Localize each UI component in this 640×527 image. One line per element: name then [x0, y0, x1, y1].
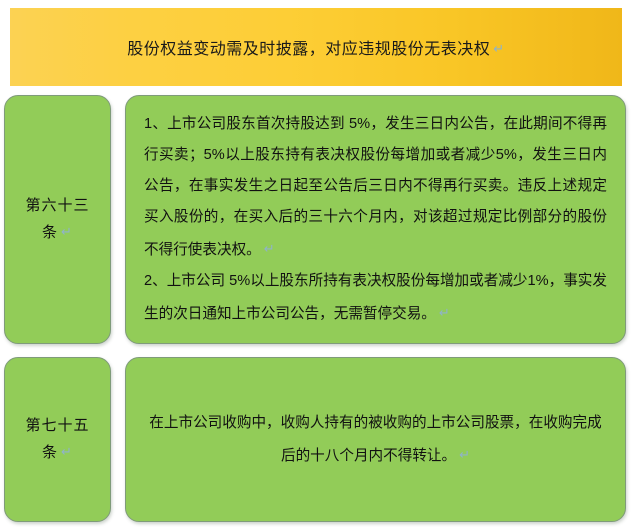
article-paragraph-text: 1、上市公司股东首次持股达到 5%，发生三日内公告，在此期间不得再行买卖；5%以…: [144, 116, 607, 258]
return-mark-icon: ↵: [58, 444, 73, 459]
article-body-cell-63: 1、上市公司股东首次持股达到 5%，发生三日内公告，在此期间不得再行买卖；5%以…: [125, 95, 626, 344]
header-title: 股份权益变动需及时披露，对应违规股份无表决权↵: [127, 35, 504, 59]
return-mark-icon: ↵: [58, 224, 73, 239]
article-paragraph-text: 2、上市公司 5%以上股东所持有表决权股份每增加或者减少1%，事实发生的次日通知…: [144, 273, 607, 322]
header-banner: 股份权益变动需及时披露，对应违规股份无表决权↵: [10, 8, 622, 86]
article-label-cell-63: 第六十三条↵: [4, 95, 111, 344]
return-mark-icon: ↵: [490, 41, 504, 56]
article-paragraph: 1、上市公司股东首次持股达到 5%，发生三日内公告，在此期间不得再行买卖；5%以…: [144, 109, 607, 266]
header-title-text: 股份权益变动需及时披露，对应违规股份无表决权: [127, 41, 490, 58]
article-body-cell-75: 在上市公司收购中，收购人持有的被收购的上市公司股票，在收购完成后的十八个月内不得…: [125, 357, 626, 522]
article-body-text-63: 1、上市公司股东首次持股达到 5%，发生三日内公告，在此期间不得再行买卖；5%以…: [126, 109, 625, 330]
article-body-text-75: 在上市公司收购中，收购人持有的被收购的上市公司股票，在收购完成后的十八个月内不得…: [126, 408, 625, 472]
return-mark-icon: ↵: [456, 447, 470, 462]
article-paragraph: 在上市公司收购中，收购人持有的被收购的上市公司股票，在收购完成后的十八个月内不得…: [144, 408, 607, 472]
article-label-text-75: 第七十五条↵: [5, 413, 110, 466]
article-label-text-63: 第六十三条↵: [5, 193, 110, 246]
return-mark-icon: ↵: [436, 305, 450, 320]
article-paragraph-text: 在上市公司收购中，收购人持有的被收购的上市公司股票，在收购完成后的十八个月内不得…: [149, 415, 601, 464]
article-paragraph: 2、上市公司 5%以上股东所持有表决权股份每增加或者减少1%，事实发生的次日通知…: [144, 266, 607, 330]
return-mark-icon: ↵: [261, 241, 275, 256]
article-label-cell-75: 第七十五条↵: [4, 357, 111, 522]
slide-canvas: 股份权益变动需及时披露，对应违规股份无表决权↵ 第六十三条↵ 1、上市公司股东首…: [0, 0, 640, 527]
